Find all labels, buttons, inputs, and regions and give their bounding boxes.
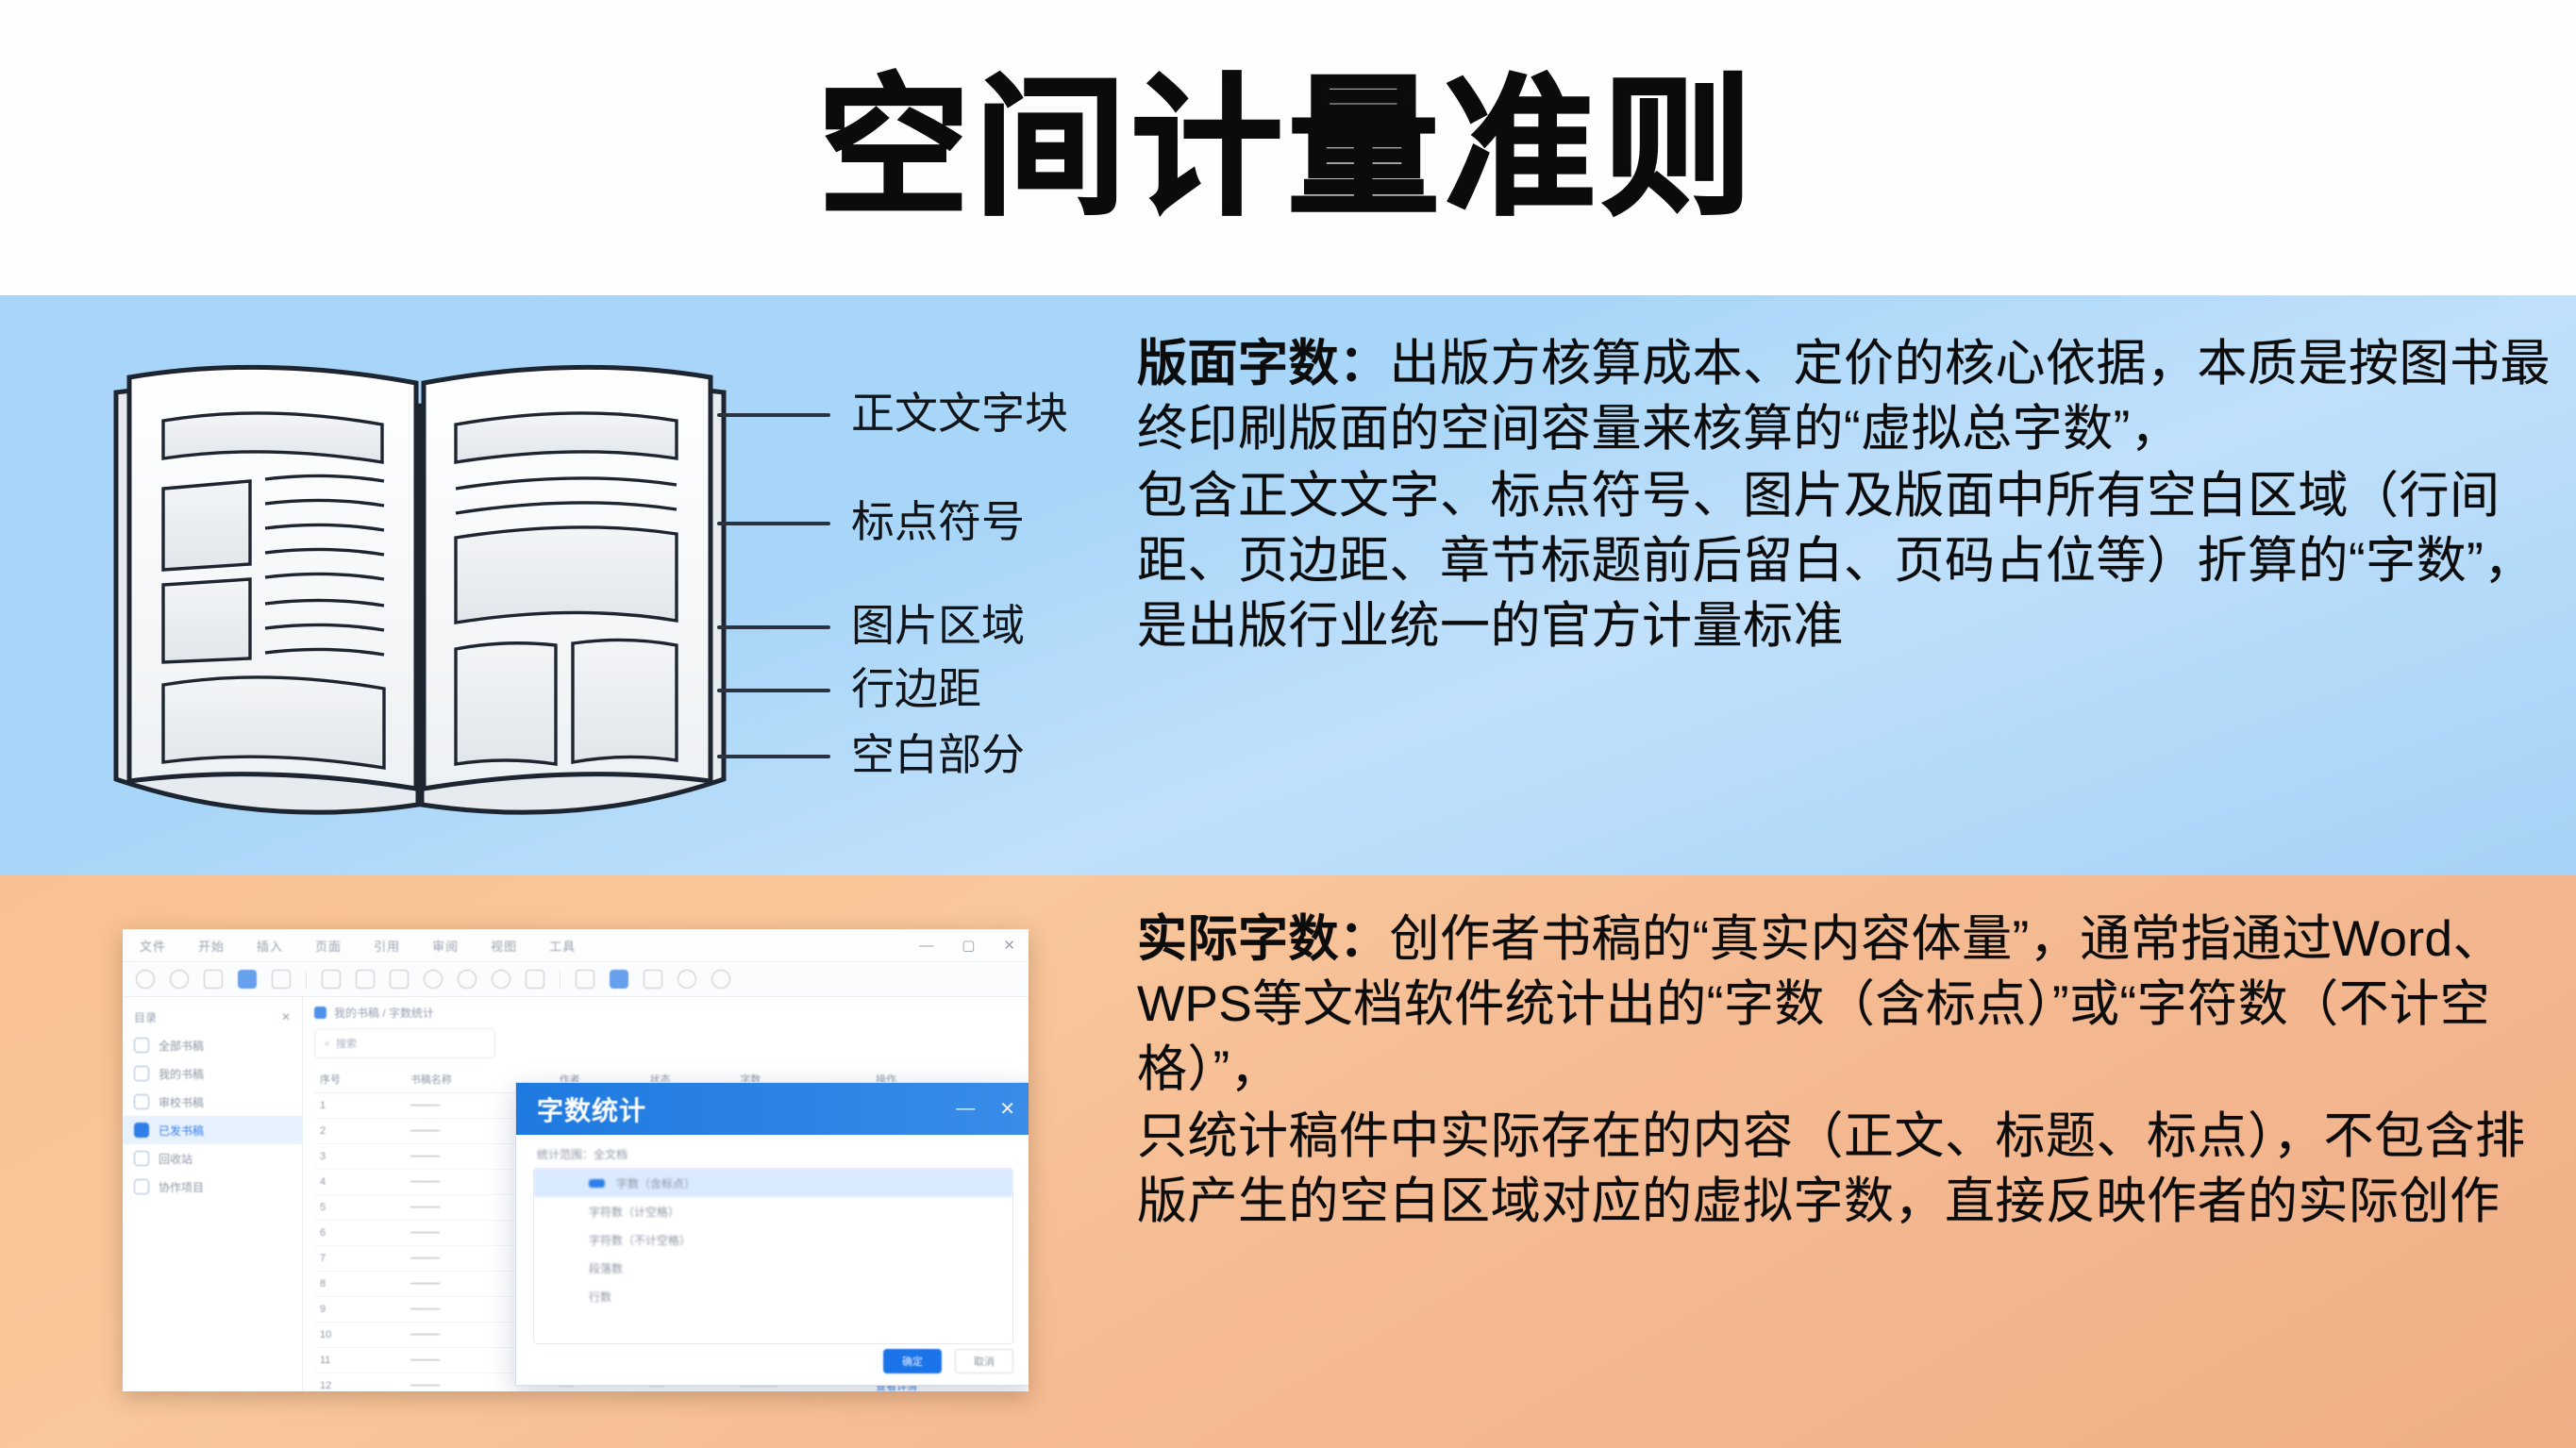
table-cell: 8 [314,1272,405,1297]
callout-label: 正文文字块 [851,391,1068,435]
table-cell: 1 [314,1093,405,1119]
table-cell: 2 [314,1119,405,1144]
callout-group: 正文文字块 标点符号 图片区域 行边距 空白部分 [717,321,1113,830]
sidebar-item-label: 我的书稿 [159,1066,204,1082]
open-book-illustration [99,338,741,828]
menu-item-home[interactable]: 开始 [198,937,225,955]
sidebar-item-published[interactable]: 已发书稿 [123,1116,302,1144]
toolbar-shape-icon[interactable] [644,970,662,989]
breadcrumb: 我的书稿 / 字数统计 [314,1005,1019,1021]
dialog-minimize-icon[interactable]: — [956,1098,975,1120]
sidebar-close-icon[interactable]: ✕ [281,1010,291,1024]
toolbar-save-icon[interactable] [136,970,155,989]
toolbar-more-icon[interactable] [711,970,730,989]
sidebar-title: 目录 [134,1009,157,1025]
menu-item-file[interactable]: 文件 [140,937,166,955]
table-cell: 6 [314,1221,405,1246]
dialog-confirm-button[interactable]: 确定 [883,1349,942,1373]
toolbar-count-icon[interactable] [610,970,628,989]
callout-label: 空白部分 [851,733,1025,776]
dialog-option-label: 字符数（不计空格） [589,1232,691,1248]
table-cell: 10 [314,1323,405,1348]
orange-paragraph-2: 只统计稿件中实际存在的内容（正文、标题、标点），不包含排版产生的空白区域对应的虚… [1137,1105,2557,1235]
doc-icon [134,1066,149,1081]
title-band: 空间计量准则 [0,0,2576,295]
word-count-app-screenshot: 文件 开始 插入 页面 引用 审阅 视图 工具 — ▢ ✕ [123,929,1029,1391]
toolbar-doc-icon[interactable] [238,970,257,989]
dialog-option[interactable]: 行数 [534,1282,1012,1310]
minimize-icon[interactable]: — [919,938,933,954]
toolbar-table-icon[interactable] [576,970,594,989]
sidebar-item-label: 审校书稿 [159,1094,204,1110]
sidebar-item-label: 全部书稿 [159,1038,204,1054]
sidebar-item-recycle-bin[interactable]: 回收站 [123,1144,302,1173]
dialog-cancel-button[interactable]: 取消 [955,1349,1013,1373]
callout-label: 标点符号 [851,500,1025,543]
dialog-option[interactable]: 字数（含标点） [534,1169,1012,1197]
sidebar-item-review-manuscripts[interactable]: 审校书稿 [123,1088,302,1116]
menu-item-page[interactable]: 页面 [315,937,342,955]
leader-line-icon [717,755,830,758]
users-icon [134,1179,149,1194]
window-controls: — ▢ ✕ [919,929,1015,961]
dialog-title: 字数统计 [537,1090,646,1128]
dialog-buttons: 确定 取消 [883,1349,1013,1373]
callout-label: 行边距 [851,667,981,710]
dialog-option[interactable]: 字符数（计空格） [534,1197,1012,1225]
sidebar-item-label: 回收站 [159,1151,192,1167]
toolbar-link-icon[interactable] [526,970,544,989]
folder-icon [134,1038,149,1053]
app-main: 我的书稿 / 字数统计 ⌕ 搜索 序号 书稿名称 作者 状态 字数 操作 [303,997,1029,1391]
sidebar-item-all-manuscripts[interactable]: 全部书稿 [123,1031,302,1059]
menu-item-review[interactable]: 审阅 [432,937,459,955]
word-count-dialog: 字数统计 — ✕ 统计范围：全文档 字数（含标点）字符数（计空格）字符数（不计空… [515,1082,1029,1386]
dialog-option-list[interactable]: 字数（含标点）字符数（计空格）字符数（不计空格）段落数行数 [533,1168,1013,1344]
close-icon[interactable]: ✕ [1003,937,1015,954]
table-cell: 9 [314,1297,405,1323]
menu-item-insert[interactable]: 插入 [257,937,283,955]
sidebar-item-label: 已发书稿 [159,1123,204,1139]
orange-paragraph-1: 实际字数：创作者书稿的“真实内容体量”，通常指通过Word、WPS等文档软件统计… [1137,907,2557,1103]
sidebar-item-my-manuscripts[interactable]: 我的书稿 [123,1059,302,1088]
toolbar-align-icon[interactable] [322,970,341,989]
toolbar-cut-icon[interactable] [390,970,409,989]
blue-paragraph-1: 版面字数：出版方核算成本、定价的核心依据，本质是按图书最终印刷版面的空间容量来核… [1137,332,2557,462]
maximize-icon[interactable]: ▢ [962,937,975,954]
leader-line-icon [717,625,830,629]
toolbar-font-icon[interactable] [272,970,291,989]
toolbar-chart-icon[interactable] [677,970,696,989]
toolbar-globe-icon[interactable] [492,970,510,989]
toolbar-refresh-icon[interactable] [458,970,477,989]
dialog-option-label: 字数（含标点） [616,1175,695,1191]
selected-indicator-icon [589,1179,605,1188]
sidebar-item-collaboration[interactable]: 协作项目 [123,1173,302,1201]
trash-icon [134,1151,149,1166]
app-toolbar [123,962,1029,997]
menu-item-refs[interactable]: 引用 [374,937,400,955]
toolbar-divider-2 [560,971,560,988]
sidebar-header: 目录 ✕ [123,1003,302,1031]
search-input[interactable]: ⌕ 搜索 [314,1028,495,1058]
dialog-controls: — ✕ [956,1083,1015,1135]
col-index: 序号 [314,1066,405,1093]
menu-item-view[interactable]: 视图 [491,937,517,955]
breadcrumb-text: 我的书稿 / 字数统计 [334,1005,434,1021]
menu-item-tools[interactable]: 工具 [549,937,576,955]
table-cell: 5 [314,1195,405,1221]
app-menubar: 文件 开始 插入 页面 引用 审阅 视图 工具 — ▢ ✕ [123,929,1029,962]
app-sidebar: 目录 ✕ 全部书稿 我的书稿 审校书稿 已发书稿 回收站 [123,997,303,1391]
page-title: 空间计量准则 [818,73,1758,224]
app-body: 目录 ✕ 全部书稿 我的书稿 审校书稿 已发书稿 回收站 [123,997,1029,1391]
dialog-close-icon[interactable]: ✕ [999,1097,1015,1121]
toolbar-clock-icon[interactable] [424,970,443,989]
search-placeholder: 搜索 [336,1036,357,1051]
blue-paragraph-2: 包含正文文字、标点符号、图片及版面中所有空白区域（行间距、页边距、章节标题前后留… [1137,464,2557,659]
toolbar-print-icon[interactable] [204,970,223,989]
search-icon: ⌕ [325,1038,330,1050]
toolbar-list-icon[interactable] [356,970,375,989]
table-cell: 11 [314,1348,405,1373]
dialog-option[interactable]: 字符数（不计空格） [534,1225,1012,1254]
toolbar-undo-icon[interactable] [170,970,189,989]
orange-term: 实际字数： [1137,911,1390,967]
dialog-subtitle: 统计范围：全文档 [516,1135,1029,1168]
table-cell: 7 [314,1246,405,1272]
dialog-header: 字数统计 — ✕ [516,1083,1029,1135]
blue-section-copy: 版面字数：出版方核算成本、定价的核心依据，本质是按图书最终印刷版面的空间容量来核… [1137,332,2557,658]
dialog-option-label: 行数 [589,1289,611,1305]
dialog-option-label: 段落数 [589,1260,623,1276]
callout-label: 图片区域 [851,604,1025,647]
published-icon [134,1123,149,1138]
toolbar-divider [306,971,307,988]
orange-section-copy: 实际字数：创作者书稿的“真实内容体量”，通常指通过Word、WPS等文档软件统计… [1137,907,2557,1234]
table-cell: 4 [314,1170,405,1195]
leader-line-icon [717,689,830,692]
sidebar-item-label: 协作项目 [159,1179,204,1195]
dialog-option[interactable]: 段落数 [534,1254,1012,1282]
breadcrumb-icon [314,1007,326,1019]
leader-line-icon [717,522,830,525]
blue-term: 版面字数： [1137,336,1390,391]
dialog-option-label: 字符数（计空格） [589,1204,679,1220]
table-cell: 12 [314,1373,405,1392]
table-cell: 3 [314,1144,405,1170]
leader-line-icon [717,413,830,417]
check-icon [134,1094,149,1109]
